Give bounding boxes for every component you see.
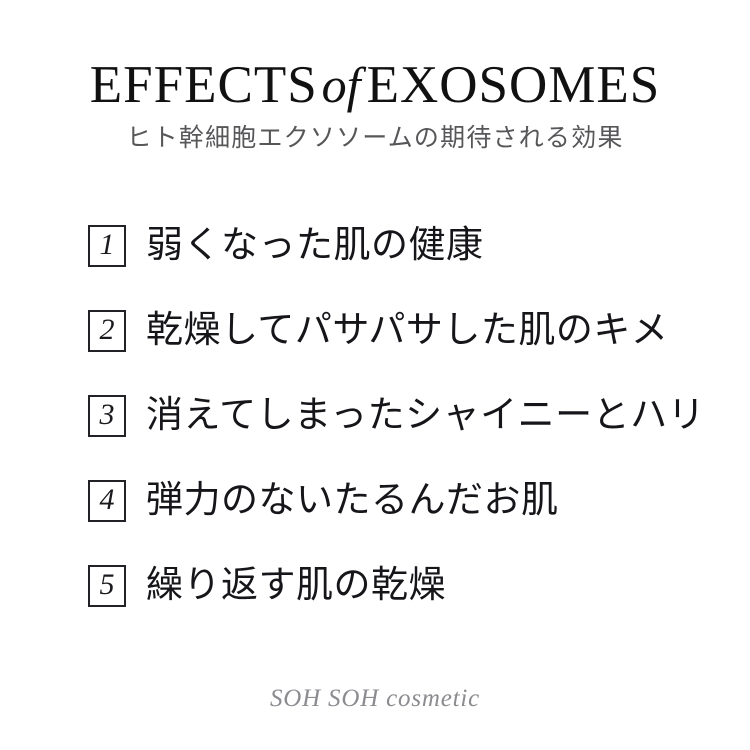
- list-item-text: 繰り返す肌の乾燥: [146, 567, 446, 606]
- brand-wordmark: SOH SOH cosmetic: [0, 685, 750, 713]
- number-badge-label: 2: [100, 315, 115, 345]
- list-item-text: 弾力のないたるんだお肌: [146, 482, 559, 521]
- number-badge-label: 3: [100, 400, 115, 430]
- title-word-of: of: [318, 57, 367, 113]
- list-item: 1 弱くなった肌の健康: [88, 222, 708, 270]
- effects-list: 1 弱くなった肌の健康 2 乾燥してパサパサした肌のキメ 3 消えてしまったシャ…: [88, 222, 708, 610]
- number-badge-label: 5: [100, 570, 115, 600]
- list-item: 2 乾燥してパサパサした肌のキメ: [88, 307, 708, 355]
- page-subtitle: ヒト幹細胞エクソソームの期待される効果: [0, 125, 750, 153]
- number-badge-label: 1: [100, 230, 115, 260]
- header-block: EFFECTSofEXOSOMES ヒト幹細胞エクソソームの期待される効果: [0, 58, 750, 153]
- number-badge: 2: [88, 310, 126, 352]
- list-item-text: 消えてしまったシャイニーとハリ: [146, 397, 705, 436]
- list-item: 5 繰り返す肌の乾燥: [88, 562, 708, 610]
- footer-block: SOH SOH cosmetic: [0, 685, 750, 713]
- number-badge: 4: [88, 480, 126, 522]
- title-word-exosomes: EXOSOMES: [367, 56, 661, 114]
- list-item-text: 弱くなった肌の健康: [146, 227, 484, 266]
- title-word-effects: EFFECTS: [90, 56, 318, 114]
- number-badge: 1: [88, 225, 126, 267]
- number-badge: 3: [88, 395, 126, 437]
- list-item-text: 乾燥してパサパサした肌のキメ: [146, 312, 668, 351]
- poster-canvas: EFFECTSofEXOSOMES ヒト幹細胞エクソソームの期待される効果 1 …: [0, 0, 750, 750]
- number-badge-label: 4: [100, 485, 115, 515]
- number-badge: 5: [88, 565, 126, 607]
- list-item: 4 弾力のないたるんだお肌: [88, 477, 708, 525]
- page-title: EFFECTSofEXOSOMES: [0, 58, 750, 112]
- list-item: 3 消えてしまったシャイニーとハリ: [88, 392, 708, 440]
